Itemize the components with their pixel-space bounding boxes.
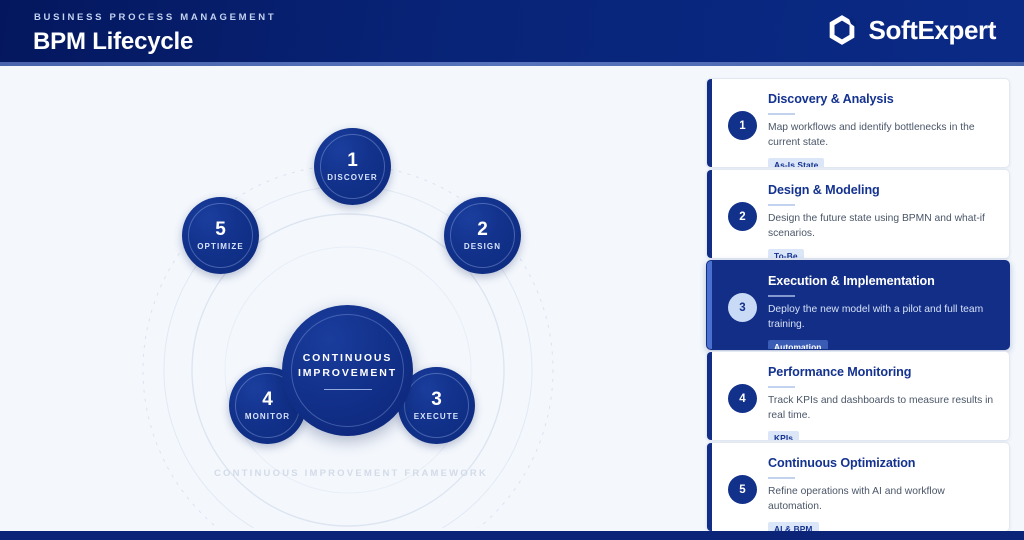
- cycle-node-label: DESIGN: [464, 243, 501, 251]
- phase-card-3[interactable]: 3 Execution & Implementation Deploy the …: [706, 260, 1010, 350]
- cycle-node-label: MONITOR: [245, 413, 290, 421]
- diagram-caption: CONTINUOUS IMPROVEMENT FRAMEWORK: [8, 468, 694, 479]
- cycle-node-number: 1: [347, 151, 358, 170]
- card-description: Refine operations with AI and workflow a…: [768, 485, 999, 515]
- phase-card-2[interactable]: 2 Design & Modeling Design the future st…: [706, 169, 1010, 259]
- card-title: Discovery & Analysis: [768, 92, 999, 107]
- core-line-2: IMPROVEMENT: [298, 366, 397, 380]
- card-step-number: 2: [728, 202, 757, 231]
- card-accent-bar: [707, 79, 712, 167]
- header-eyebrow: BUSINESS PROCESS MANAGEMENT: [34, 12, 276, 23]
- page-footer-bar: [0, 531, 1024, 540]
- diagram-core: CONTINUOUS IMPROVEMENT: [282, 305, 413, 436]
- card-description: Deploy the new model with a pilot and fu…: [768, 303, 999, 333]
- cycle-node-number: 3: [431, 390, 442, 409]
- header-divider: [0, 62, 1024, 66]
- hexagon-cut-icon: [825, 13, 859, 47]
- card-accent-bar: [707, 352, 712, 440]
- phase-card-4[interactable]: 4 Performance Monitoring Track KPIs and …: [706, 351, 1010, 441]
- cycle-node-5[interactable]: 5 OPTIMIZE: [182, 197, 259, 274]
- card-description: Track KPIs and dashboards to measure res…: [768, 394, 999, 424]
- card-badge: Automation: [768, 340, 828, 350]
- phase-card-list: 1 Discovery & Analysis Map workflows and…: [706, 78, 1010, 526]
- cycle-node-label: DISCOVER: [327, 174, 378, 182]
- card-title: Performance Monitoring: [768, 365, 999, 380]
- card-accent-bar: [707, 261, 712, 349]
- card-title-underline: [768, 204, 795, 206]
- cycle-node-label: EXECUTE: [414, 413, 460, 421]
- brand-name: SoftExpert: [869, 15, 996, 46]
- card-step-number: 1: [728, 111, 757, 140]
- cycle-node-number: 2: [477, 220, 488, 239]
- card-badge: To-Be: [768, 249, 804, 259]
- core-divider: [324, 389, 372, 390]
- card-title: Continuous Optimization: [768, 456, 999, 471]
- cycle-node-1[interactable]: 1 DISCOVER: [314, 128, 391, 205]
- lifecycle-diagram: 1 DISCOVER 2 DESIGN 3 EXECUTE 4 MONITOR …: [8, 70, 694, 528]
- page-title: BPM Lifecycle: [33, 28, 193, 56]
- cycle-node-number: 5: [215, 220, 226, 239]
- card-title-underline: [768, 113, 795, 115]
- card-step-number: 5: [728, 475, 757, 504]
- card-accent-bar: [707, 170, 712, 258]
- card-badge: As-Is State: [768, 158, 824, 168]
- cycle-node-number: 4: [262, 390, 273, 409]
- card-step-number: 3: [728, 293, 757, 322]
- phase-card-5[interactable]: 5 Continuous Optimization Refine operati…: [706, 442, 1010, 532]
- card-title-underline: [768, 477, 795, 479]
- cycle-node-2[interactable]: 2 DESIGN: [444, 197, 521, 274]
- slide-root: BUSINESS PROCESS MANAGEMENT BPM Lifecycl…: [0, 0, 1024, 540]
- card-title: Design & Modeling: [768, 183, 999, 198]
- card-title: Execution & Implementation: [768, 274, 999, 289]
- card-badge: KPIs: [768, 431, 799, 441]
- cycle-node-label: OPTIMIZE: [197, 243, 244, 251]
- phase-card-1[interactable]: 1 Discovery & Analysis Map workflows and…: [706, 78, 1010, 168]
- brand-logo: SoftExpert: [825, 13, 996, 47]
- card-description: Map workflows and identify bottlenecks i…: [768, 121, 999, 151]
- card-step-number: 4: [728, 384, 757, 413]
- card-description: Design the future state using BPMN and w…: [768, 212, 999, 242]
- core-line-1: CONTINUOUS: [303, 351, 393, 365]
- card-title-underline: [768, 295, 795, 297]
- card-accent-bar: [707, 443, 712, 531]
- card-title-underline: [768, 386, 795, 388]
